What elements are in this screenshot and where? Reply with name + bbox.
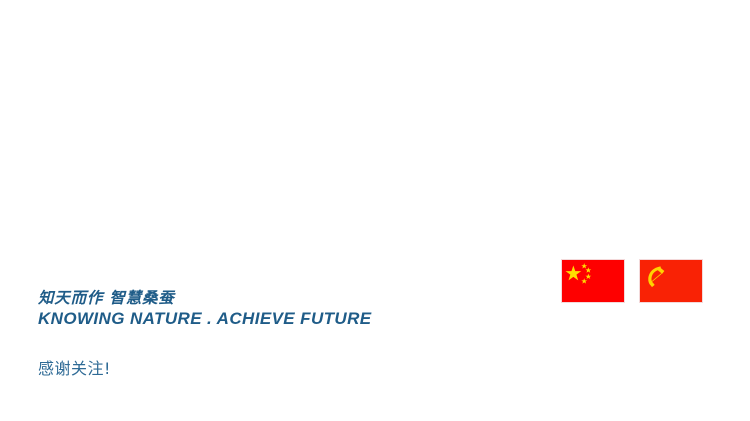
thank-you-text: 感谢关注! — [38, 358, 111, 380]
prc-flag-svg — [562, 260, 624, 302]
cpc-party-flag-icon — [639, 259, 703, 303]
cpc-flag-svg — [640, 260, 702, 302]
slide-canvas: 知天而作 智慧桑蚕 KNOWING NATURE . ACHIEVE FUTUR… — [0, 0, 750, 421]
flag-group — [561, 259, 703, 303]
slogan-chinese: 知天而作 智慧桑蚕 — [38, 288, 458, 308]
slogan-english: KNOWING NATURE . ACHIEVE FUTURE — [38, 308, 458, 330]
slogan-block: 知天而作 智慧桑蚕 KNOWING NATURE . ACHIEVE FUTUR… — [38, 288, 458, 330]
prc-national-flag-icon — [561, 259, 625, 303]
